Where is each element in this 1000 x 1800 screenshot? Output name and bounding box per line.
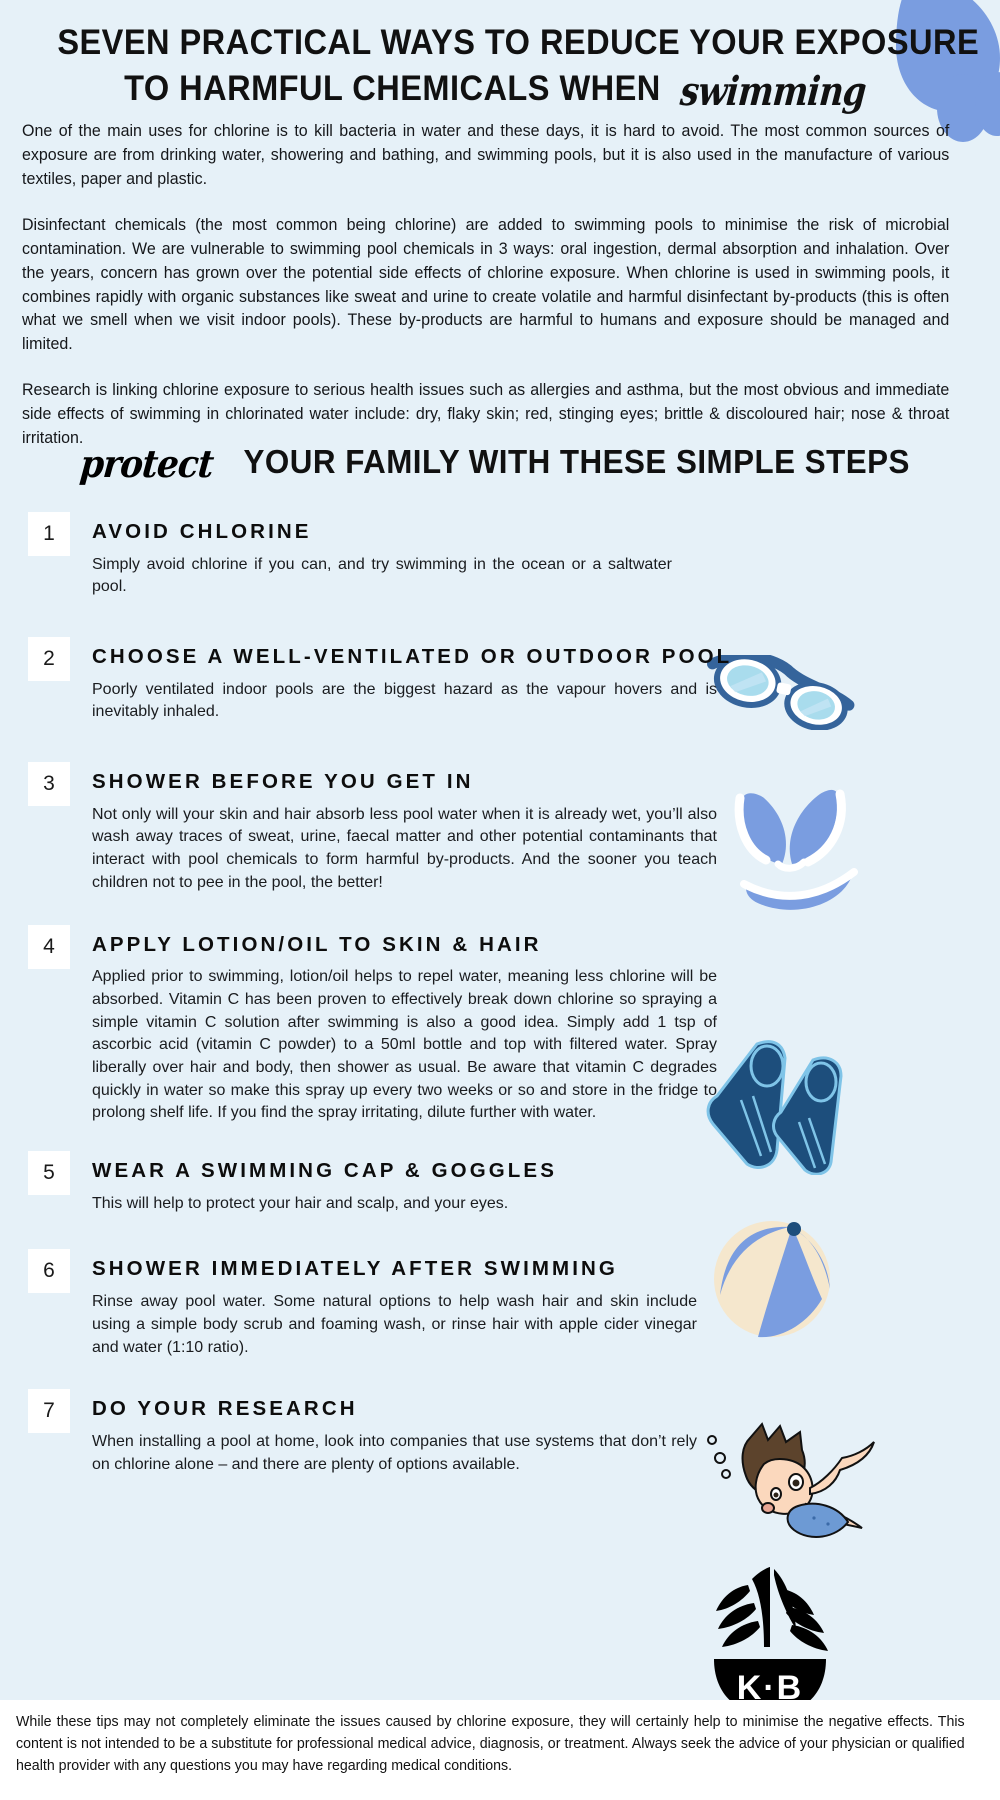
section-heading-rest: YOUR FAMILY WITH THESE SIMPLE STEPS (243, 443, 909, 481)
steps-list: 1 AVOID CHLORINE Simply avoid chlorine i… (0, 512, 1000, 1490)
section-heading-script-word: protect (78, 441, 215, 486)
intro-section: One of the main uses for chlorine is to … (22, 120, 978, 451)
infographic-poster: SEVEN PRACTICAL WAYS TO REDUCE YOUR EXPO… (0, 0, 1000, 1800)
kb-brand-logo: K·B (690, 1555, 850, 1720)
step-number-4: 4 (28, 925, 70, 969)
step-title-5: WEAR A SWIMMING CAP & GOGGLES (92, 1151, 1000, 1184)
step-body-5: This will help to protect your hair and … (92, 1193, 672, 1216)
step-body-6: Rinse away pool water. Some natural opti… (92, 1291, 697, 1359)
step-title-3: SHOWER BEFORE YOU GET IN (92, 762, 1000, 795)
title-script-word: swimming (678, 68, 867, 115)
step-number-7: 7 (28, 1389, 70, 1433)
step-number-1: 1 (28, 512, 70, 556)
title-line-2-prefix: TO HARMFUL CHEMICALS WHEN (124, 69, 670, 108)
title-line-1: SEVEN PRACTICAL WAYS TO REDUCE YOUR EXPO… (57, 22, 942, 63)
step-body-4: Applied prior to swimming, lotion/oil he… (92, 966, 717, 1125)
step-body-2: Poorly ventilated indoor pools are the b… (92, 679, 717, 724)
step-item-6: 6 SHOWER IMMEDIATELY AFTER SWIMMING Rins… (0, 1249, 1000, 1359)
step-body-7: When installing a pool at home, look int… (92, 1431, 697, 1476)
step-number-5: 5 (28, 1151, 70, 1195)
step-body-1: Simply avoid chlorine if you can, and tr… (92, 554, 672, 599)
step-number-2: 2 (28, 637, 70, 681)
step-title-7: DO YOUR RESEARCH (92, 1389, 1000, 1422)
footer-disclaimer: While these tips may not completely elim… (0, 1700, 1000, 1800)
step-title-4: APPLY LOTION/OIL TO SKIN & HAIR (92, 925, 1000, 958)
step-title-2: CHOOSE A WELL-VENTILATED OR OUTDOOR POOL (92, 637, 1000, 670)
step-number-3: 3 (28, 762, 70, 806)
intro-paragraph-1: One of the main uses for chlorine is to … (22, 120, 949, 192)
step-item-2: 2 CHOOSE A WELL-VENTILATED OR OUTDOOR PO… (0, 637, 1000, 724)
step-body-3: Not only will your skin and hair absorb … (92, 804, 717, 895)
step-number-6: 6 (28, 1249, 70, 1293)
intro-paragraph-2: Disinfectant chemicals (the most common … (22, 214, 949, 358)
step-item-1: 1 AVOID CHLORINE Simply avoid chlorine i… (0, 512, 1000, 599)
step-item-5: 5 WEAR A SWIMMING CAP & GOGGLES This wil… (0, 1151, 1000, 1215)
section-heading: protectYOUR FAMILY WITH THESE SIMPLE STE… (0, 437, 1000, 482)
step-title-6: SHOWER IMMEDIATELY AFTER SWIMMING (92, 1249, 1000, 1282)
step-item-3: 3 SHOWER BEFORE YOU GET IN Not only will… (0, 762, 1000, 894)
step-item-7: 7 DO YOUR RESEARCH When installing a poo… (0, 1389, 1000, 1476)
step-title-1: AVOID CHLORINE (92, 512, 1000, 545)
disclaimer-text: While these tips may not completely elim… (16, 1712, 965, 1777)
step-item-4: 4 APPLY LOTION/OIL TO SKIN & HAIR Applie… (0, 925, 1000, 1126)
page-title: SEVEN PRACTICAL WAYS TO REDUCE YOUR EXPO… (0, 22, 1000, 110)
title-line-2: TO HARMFUL CHEMICALS WHEN swimming (57, 63, 942, 110)
